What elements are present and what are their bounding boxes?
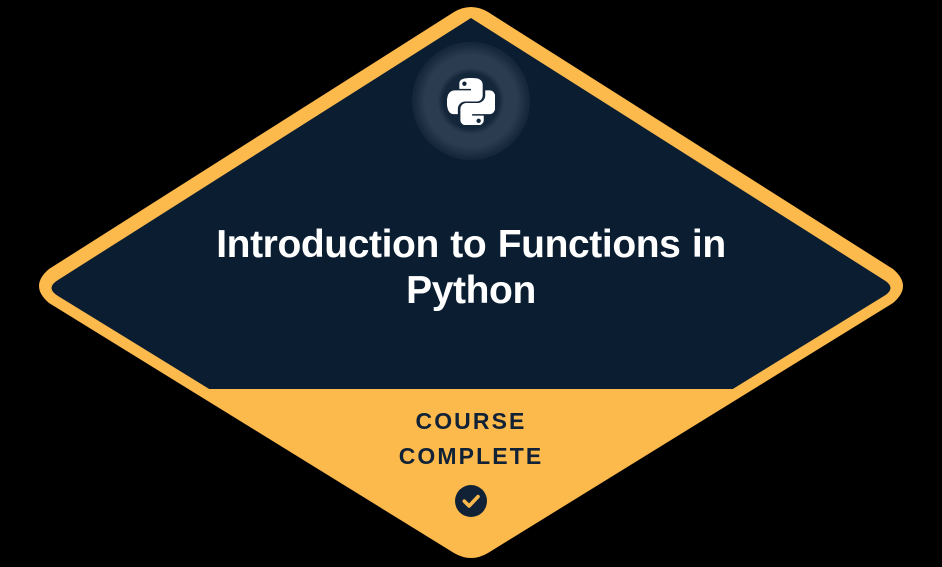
badge-canvas: Introduction to Functions in Python COUR… (0, 0, 942, 567)
badge-inner-panel (0, 0, 942, 389)
badge-footer-panel (0, 389, 942, 567)
badge-inner-panel-group (0, 0, 942, 567)
badge-shape (0, 0, 942, 567)
